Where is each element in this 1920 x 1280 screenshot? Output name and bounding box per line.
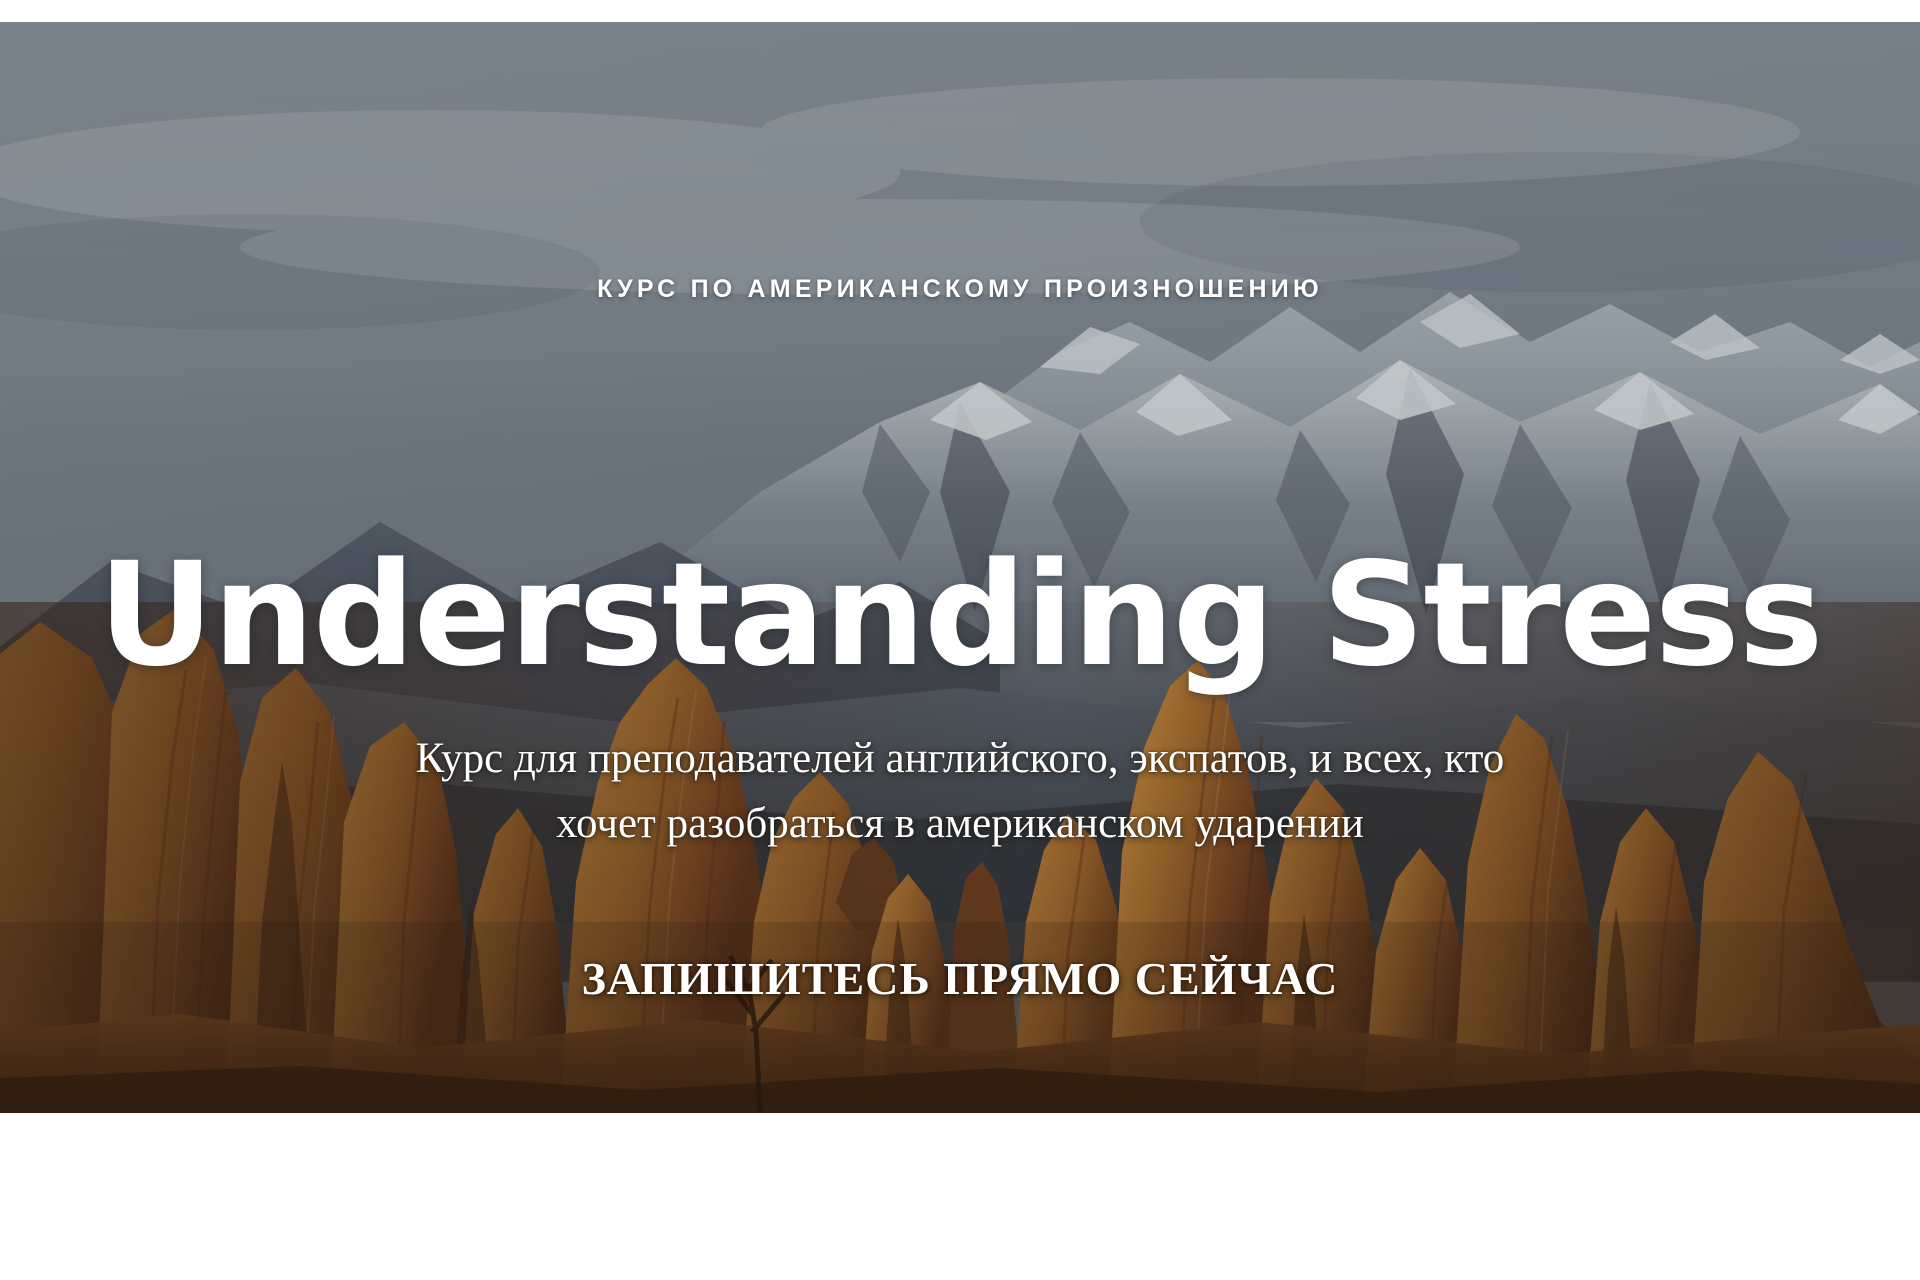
course-eyebrow-label: КУРС ПО АМЕРИКАНСКОМУ ПРОИЗНОШЕНИЮ [0,275,1920,304]
hero-page: КУРС ПО АМЕРИКАНСКОМУ ПРОИЗНОШЕНИЮ Under… [0,0,1920,1280]
hero-subtitle-line-2: хочет разобраться в американском ударени… [0,791,1920,856]
hero-subtitle: Курс для преподавателей английского, экс… [0,726,1920,857]
hero-banner: КУРС ПО АМЕРИКАНСКОМУ ПРОИЗНОШЕНИЮ Under… [0,22,1920,1113]
enroll-now-cta[interactable]: ЗАПИШИТЕСЬ ПРЯМО СЕЙЧАС [0,952,1920,1005]
page-title: Understanding Stress [0,543,1920,686]
hero-content: КУРС ПО АМЕРИКАНСКОМУ ПРОИЗНОШЕНИЮ Under… [0,22,1920,1113]
hero-subtitle-line-1: Курс для преподавателей английского, экс… [0,726,1920,791]
